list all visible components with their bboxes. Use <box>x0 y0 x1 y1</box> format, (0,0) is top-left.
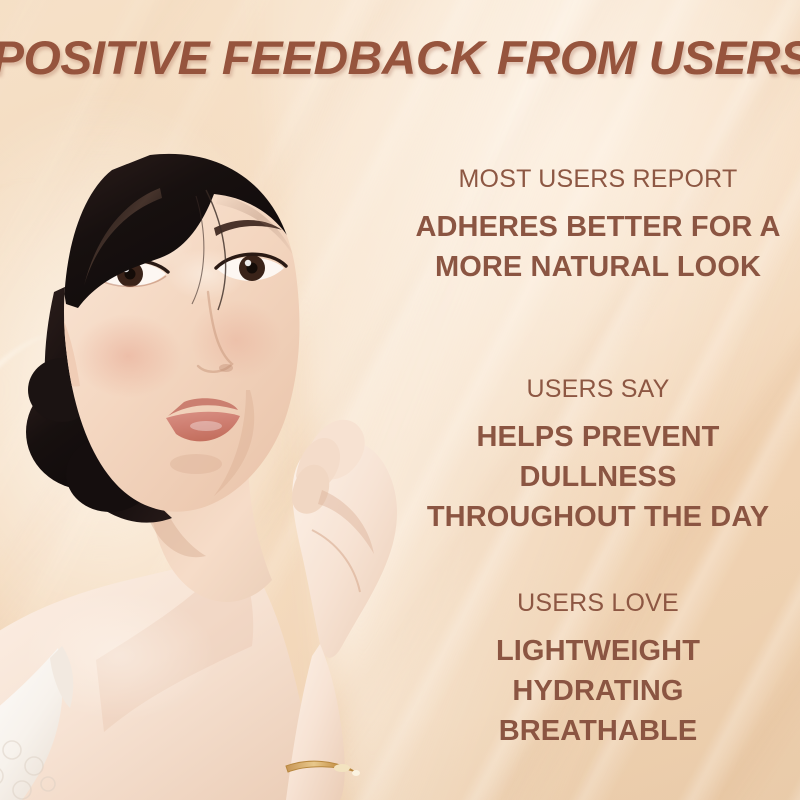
model-hand <box>286 420 397 800</box>
testimonial-claim-line: HELPS PREVENT <box>398 417 798 457</box>
testimonial-claim-line: HYDRATING <box>398 671 798 711</box>
testimonial-claim-line: MORE NATURAL LOOK <box>398 247 798 287</box>
testimonial-block-1: MOST USERS REPORT ADHERES BETTER FOR A M… <box>398 164 798 287</box>
testimonial-claim-line: LIGHTWEIGHT <box>398 631 798 671</box>
testimonial-claim-2: HELPS PREVENT DULLNESS THROUGHOUT THE DA… <box>398 417 798 537</box>
model-cheek-blush <box>74 314 182 398</box>
page-title: POSITIVE FEEDBACK FROM USERS <box>0 34 800 81</box>
testimonial-claim-line: BREATHABLE <box>398 711 798 751</box>
testimonial-kicker-3: USERS LOVE <box>398 588 798 618</box>
testimonial-kicker-2: USERS SAY <box>398 374 798 404</box>
testimonial-claim-line: DULLNESS <box>398 457 798 497</box>
testimonial-block-2: USERS SAY HELPS PREVENT DULLNESS THROUGH… <box>398 374 798 537</box>
testimonial-claim-3: LIGHTWEIGHT HYDRATING BREATHABLE <box>398 631 798 751</box>
testimonial-claim-line: THROUGHOUT THE DAY <box>398 497 798 537</box>
testimonial-block-3: USERS LOVE LIGHTWEIGHT HYDRATING BREATHA… <box>398 588 798 751</box>
testimonial-kicker-1: MOST USERS REPORT <box>398 164 798 194</box>
testimonial-claim-1: ADHERES BETTER FOR A MORE NATURAL LOOK <box>398 207 798 287</box>
testimonial-claim-line: ADHERES BETTER FOR A <box>398 207 798 247</box>
poster-canvas: POSITIVE FEEDBACK FROM USERS MOST USERS … <box>0 0 800 800</box>
